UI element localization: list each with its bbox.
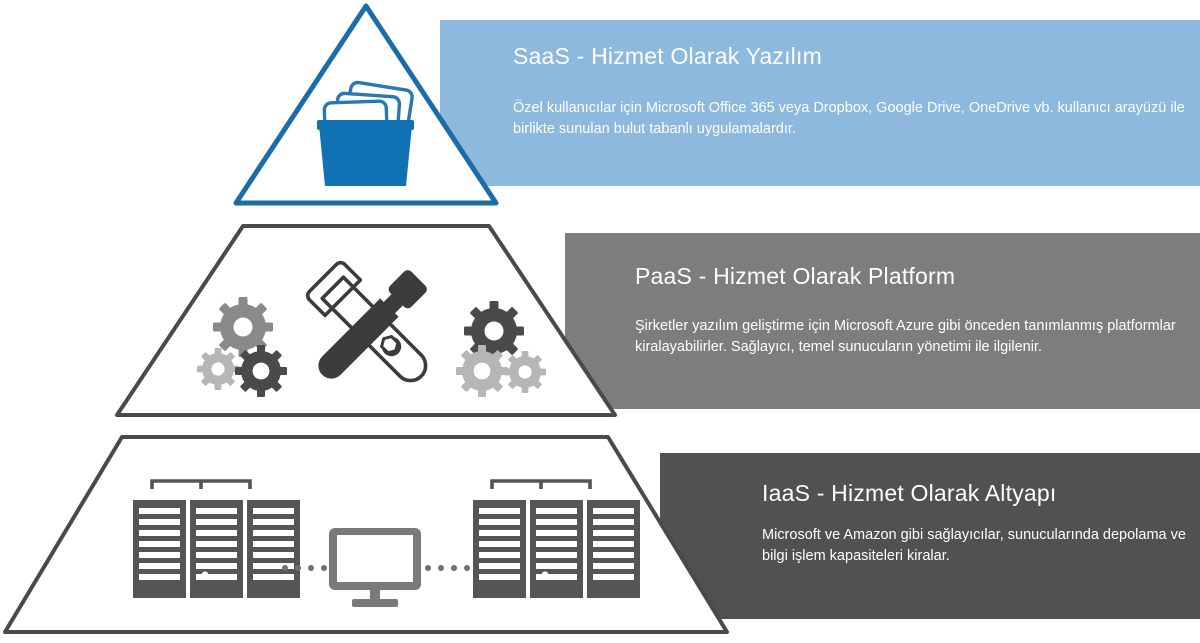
paas-text-block: PaaS - Hizmet Olarak Platform Şirketler …: [635, 263, 1195, 357]
iaas-description: Microsoft ve Amazon gibi sağlayıcılar, s…: [762, 525, 1200, 566]
saas-description: Özel kullanıcılar için Microsoft Office …: [513, 98, 1193, 139]
iaas-text-block: IaaS - Hizmet Olarak Altyapı Microsoft v…: [762, 480, 1200, 566]
saas-triangle: [236, 6, 496, 203]
saas-title: SaaS - Hizmet Olarak Yazılım: [513, 43, 1193, 70]
diagram-canvas: SaaS - Hizmet Olarak Yazılım Özel kullan…: [0, 0, 1200, 643]
paas-description: Şirketler yazılım geliştirme için Micros…: [635, 316, 1195, 357]
saas-text-block: SaaS - Hizmet Olarak Yazılım Özel kullan…: [513, 43, 1193, 139]
iaas-title: IaaS - Hizmet Olarak Altyapı: [762, 480, 1200, 507]
paas-trapezoid: [117, 226, 615, 415]
iaas-trapezoid: [5, 437, 727, 632]
paas-title: PaaS - Hizmet Olarak Platform: [635, 263, 1195, 290]
